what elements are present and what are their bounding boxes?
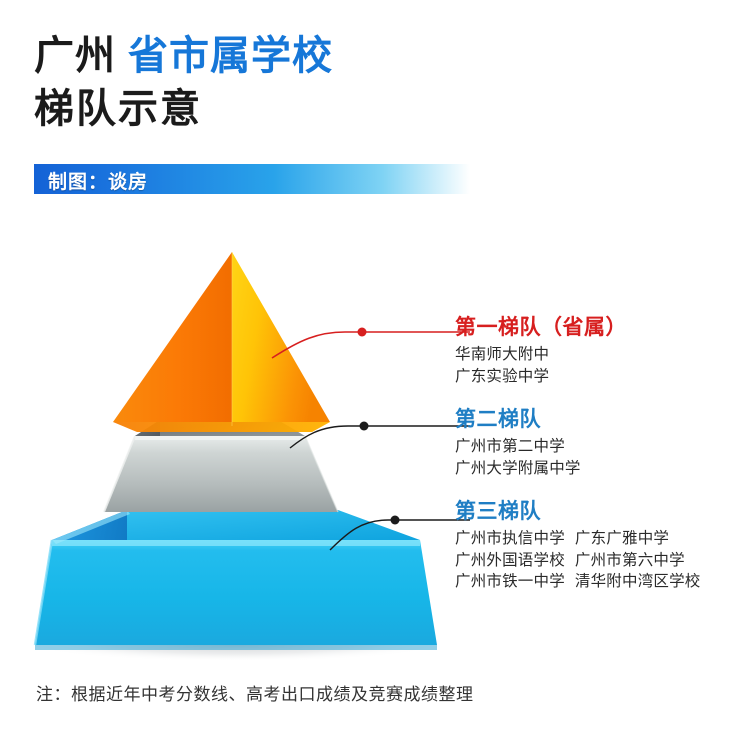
school-name: 广州外国语学校 bbox=[455, 552, 565, 569]
list-item: 广东实验中学 bbox=[455, 366, 627, 388]
school-name: 广东广雅中学 bbox=[575, 530, 669, 547]
title-city: 广州 bbox=[34, 34, 116, 78]
leader-line-level-1 bbox=[272, 328, 470, 359]
list-item: 广州外国语学校广州市第六中学 bbox=[455, 550, 701, 572]
school-name: 清华附中湾区学校 bbox=[575, 573, 701, 590]
school-name: 华南师大附中 bbox=[455, 346, 549, 363]
footnote: 注：根据近年中考分数线、高考出口成绩及竞赛成绩整理 bbox=[36, 680, 474, 705]
pyramid-level-1-orange bbox=[113, 252, 330, 432]
pyramid-graphic bbox=[0, 240, 470, 660]
school-name: 广州市第六中学 bbox=[575, 552, 685, 569]
byline-bar: 制图：谈房 bbox=[34, 164, 470, 194]
list-item: 华南师大附中 bbox=[455, 344, 627, 366]
title-category: 省市属学校 bbox=[128, 34, 333, 78]
school-name: 广州市执信中学 bbox=[455, 530, 565, 547]
school-name: 广州大学附属中学 bbox=[455, 460, 581, 477]
school-name: 广州市铁一中学 bbox=[455, 573, 565, 590]
tier-1-school-list: 华南师大附中 广东实验中学 bbox=[455, 344, 627, 387]
title-line-1: 广州省市属学校 bbox=[34, 34, 333, 78]
byline-text: 制图：谈房 bbox=[48, 167, 148, 194]
tier-block-1: 第一梯队（省属） 华南师大附中 广东实验中学 bbox=[455, 315, 627, 387]
school-name: 广东实验中学 bbox=[455, 368, 549, 385]
list-item: 广州市第二中学 bbox=[455, 436, 581, 458]
list-item: 广州大学附属中学 bbox=[455, 458, 581, 480]
tier-2-heading: 第二梯队 bbox=[455, 407, 581, 433]
list-item: 广州市执信中学广东广雅中学 bbox=[455, 528, 701, 550]
tier-block-3: 第三梯队 广州市执信中学广东广雅中学 广州外国语学校广州市第六中学 广州市铁一中… bbox=[455, 499, 701, 593]
title-line-2: 梯队示意 bbox=[34, 86, 333, 132]
page-title: 广州省市属学校 梯队示意 bbox=[34, 34, 333, 132]
school-name: 广州市第二中学 bbox=[455, 438, 565, 455]
tier-block-2: 第二梯队 广州市第二中学 广州大学附属中学 bbox=[455, 407, 581, 479]
pyramid-level-2-silver bbox=[104, 420, 338, 512]
infographic-canvas: 广州省市属学校 梯队示意 制图：谈房 bbox=[0, 0, 740, 739]
tier-3-school-list: 广州市执信中学广东广雅中学 广州外国语学校广州市第六中学 广州市铁一中学清华附中… bbox=[455, 528, 701, 593]
tier-3-heading: 第三梯队 bbox=[455, 499, 701, 525]
list-item: 广州市铁一中学清华附中湾区学校 bbox=[455, 571, 701, 593]
tier-2-school-list: 广州市第二中学 广州大学附属中学 bbox=[455, 436, 581, 479]
pyramid-level-3-blue bbox=[35, 510, 437, 650]
tier-1-heading: 第一梯队（省属） bbox=[455, 315, 627, 341]
